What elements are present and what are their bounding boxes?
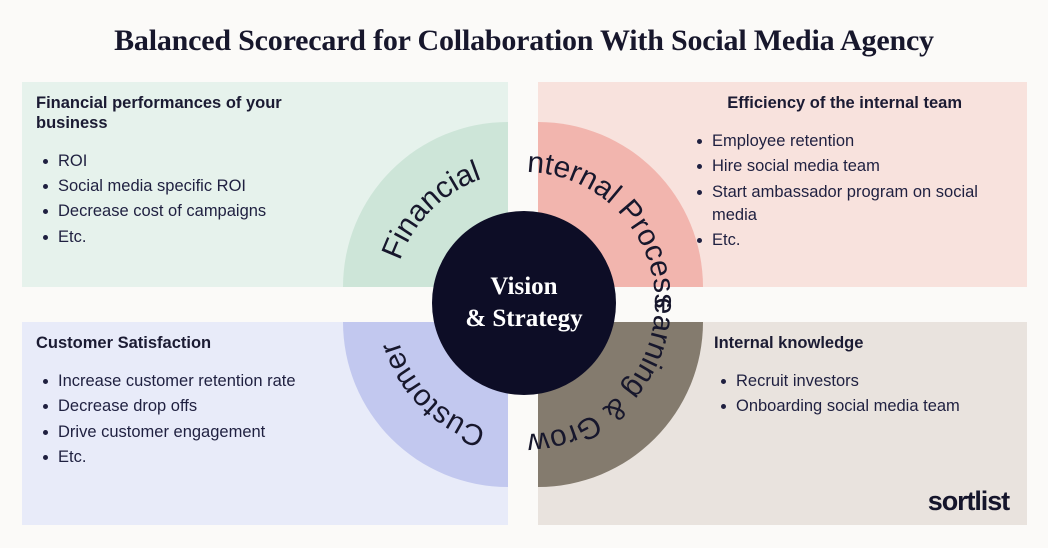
learning-growth-heading: Internal knowledge bbox=[714, 334, 994, 354]
list-item: ROI bbox=[58, 150, 336, 173]
list-item: Start ambassador program on social media bbox=[712, 181, 980, 228]
list-item: Etc. bbox=[58, 226, 336, 249]
customer-heading: Customer Satisfaction bbox=[36, 334, 346, 354]
list-item: Decrease cost of campaigns bbox=[58, 200, 336, 223]
learning-growth-content: Internal knowledge Recruit investors Onb… bbox=[714, 334, 994, 421]
learning-growth-bullet-list: Recruit investors Onboarding social medi… bbox=[714, 370, 994, 419]
list-item: Social media specific ROI bbox=[58, 175, 336, 198]
list-item: Employee retention bbox=[712, 130, 980, 153]
customer-content: Customer Satisfaction Increase customer … bbox=[36, 334, 346, 471]
vision-strategy-circle: Vision & Strategy bbox=[432, 211, 616, 395]
customer-bullet-list: Increase customer retention rate Decreas… bbox=[36, 370, 346, 470]
internal-process-bullet-list: Employee retention Hire social media tea… bbox=[690, 130, 980, 253]
vision-label: Vision bbox=[490, 271, 557, 303]
list-item: Onboarding social media team bbox=[736, 395, 994, 418]
list-item: Increase customer retention rate bbox=[58, 370, 346, 393]
list-item: Hire social media team bbox=[712, 155, 980, 178]
internal-process-content: Efficiency of the internal team Employee… bbox=[690, 94, 980, 255]
balanced-scorecard-board: Financial performances of your business … bbox=[0, 0, 1048, 548]
financial-heading: Financial performances of your business bbox=[36, 94, 336, 134]
quadrant-customer: Customer Satisfaction Increase customer … bbox=[22, 322, 508, 525]
quadrant-internal-process: Efficiency of the internal team Employee… bbox=[538, 82, 1027, 287]
sortlist-logo: sortlist bbox=[928, 486, 1009, 517]
financial-bullet-list: ROI Social media specific ROI Decrease c… bbox=[36, 150, 336, 250]
quadrant-financial: Financial performances of your business … bbox=[22, 82, 508, 287]
list-item: Etc. bbox=[58, 446, 346, 469]
list-item: Decrease drop offs bbox=[58, 395, 346, 418]
financial-content: Financial performances of your business … bbox=[36, 94, 336, 251]
internal-process-heading: Efficiency of the internal team bbox=[690, 94, 962, 114]
list-item: Drive customer engagement bbox=[58, 421, 346, 444]
strategy-label: & Strategy bbox=[465, 303, 582, 335]
list-item: Recruit investors bbox=[736, 370, 994, 393]
quadrant-learning-growth: Internal knowledge Recruit investors Onb… bbox=[538, 322, 1027, 525]
list-item: Etc. bbox=[712, 229, 980, 252]
